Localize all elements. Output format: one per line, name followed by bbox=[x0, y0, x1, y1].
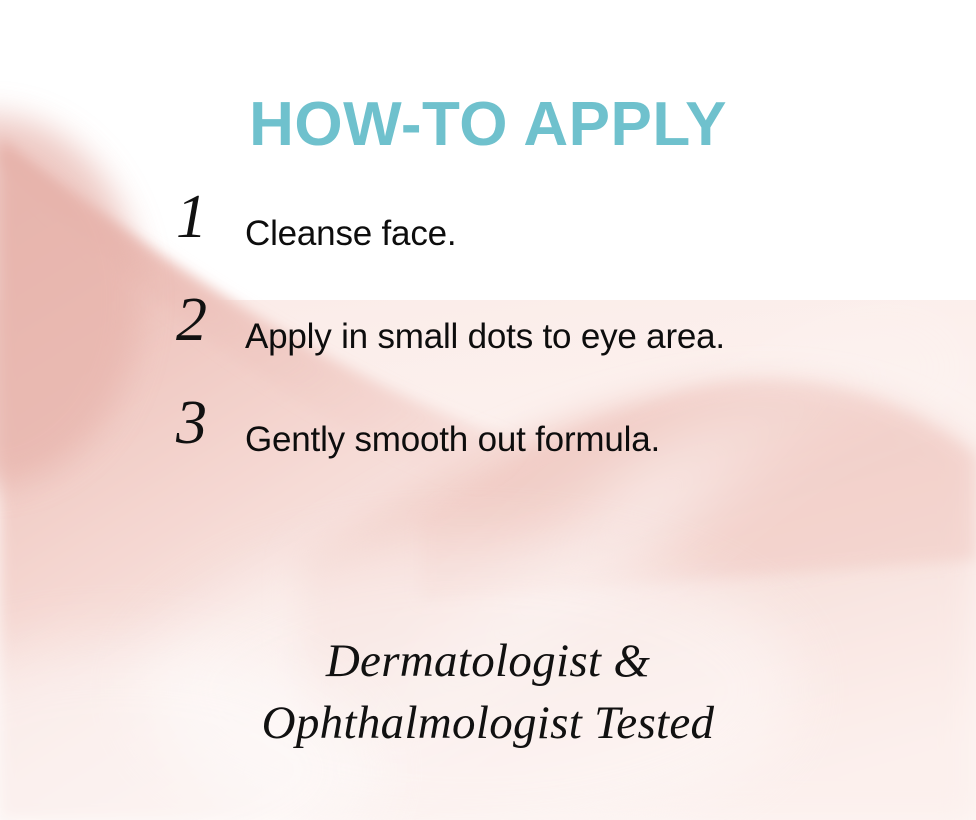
page-title: HOW-TO APPLY bbox=[0, 94, 976, 156]
step-text: Apply in small dots to eye area. bbox=[245, 319, 725, 354]
testing-claim: Dermatologist & Ophthalmologist Tested bbox=[0, 630, 976, 754]
testing-claim-line-1: Dermatologist & bbox=[0, 630, 976, 692]
step-number: 3 bbox=[176, 392, 232, 454]
step-number: 2 bbox=[176, 289, 232, 351]
step-item: 3 Gently smooth out formula. bbox=[176, 398, 936, 501]
content-layer: HOW-TO APPLY 1 Cleanse face. 2 Apply in … bbox=[0, 0, 976, 820]
step-number: 1 bbox=[176, 186, 232, 248]
step-text: Gently smooth out formula. bbox=[245, 422, 660, 457]
how-to-apply-steps: 1 Cleanse face. 2 Apply in small dots to… bbox=[176, 192, 936, 501]
step-item: 2 Apply in small dots to eye area. bbox=[176, 295, 936, 398]
step-item: 1 Cleanse face. bbox=[176, 192, 936, 295]
testing-claim-line-2: Ophthalmologist Tested bbox=[0, 692, 976, 754]
step-text: Cleanse face. bbox=[245, 216, 456, 251]
how-to-apply-graphic: HOW-TO APPLY 1 Cleanse face. 2 Apply in … bbox=[0, 0, 976, 820]
